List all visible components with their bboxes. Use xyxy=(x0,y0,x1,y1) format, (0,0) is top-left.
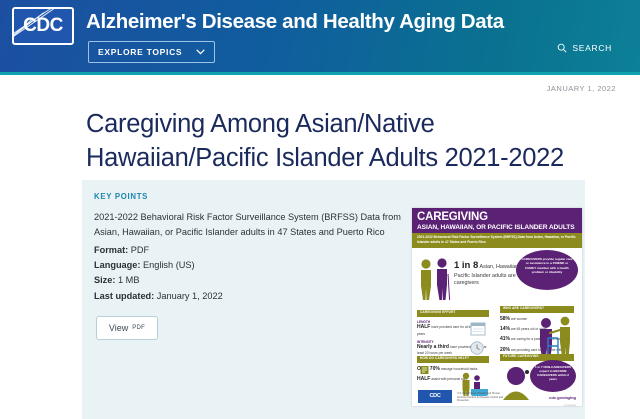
meta-value: English (US) xyxy=(140,260,194,270)
explore-topics-button[interactable]: EXPLORE TOPICS xyxy=(88,41,215,63)
caregiver-figures-icon xyxy=(416,258,456,306)
chevron-down-icon xyxy=(196,48,205,57)
meta-key: Last updated: xyxy=(94,291,154,301)
clock-icon xyxy=(470,341,484,355)
meta-value: PDF xyxy=(128,245,149,255)
stat-value: Nearly a third xyxy=(417,344,449,350)
infographic-subtitle: ASIAN, HAWAIIAN, OR PACIFIC ISLANDER ADU… xyxy=(417,224,578,231)
calendar-icon xyxy=(470,322,486,336)
infographic-agency-note: U.S. Department of Health and Human Serv… xyxy=(457,392,507,403)
bar-who-are-caregivers: WHO ARE CAREGIVERS? xyxy=(500,306,574,313)
stat-value: 41% xyxy=(500,336,510,342)
infographic-thumbnail[interactable]: CAREGIVING ASIAN, HAWAIIAN, OR PACIFIC I… xyxy=(412,208,582,406)
key-points-label: KEY POINTS xyxy=(94,192,148,201)
stat-text: manage household tasks xyxy=(440,367,478,371)
hero-number: 1 in 8 xyxy=(454,260,478,271)
search-icon xyxy=(557,43,567,53)
search-button[interactable]: SEARCH xyxy=(557,43,612,53)
stat-value: 20% xyxy=(500,347,510,353)
meta-key: Size: xyxy=(94,275,115,285)
stat-value: 14% xyxy=(500,326,510,332)
view-pdf-button[interactable]: View PDF xyxy=(96,316,158,340)
household-task-icon xyxy=(420,364,429,375)
infographic-cdc-logo: CDC xyxy=(417,389,453,404)
stat-value: HALF xyxy=(417,376,430,382)
stat-text: are women xyxy=(510,317,527,321)
search-label: SEARCH xyxy=(572,43,612,53)
meta-row-language: Language: English (US) xyxy=(94,258,414,273)
meta-row-last-updated: Last updated: January 1, 2022 xyxy=(94,289,414,304)
future-badge-text: 1 in 7 NON-CAREGIVERS expect to BECOME C… xyxy=(530,360,576,381)
key-points-panel: KEY POINTS 2021-2022 Behavioral Risk Fac… xyxy=(82,180,585,419)
meta-key: Format: xyxy=(94,245,128,255)
site-title: Alzheimer's Disease and Healthy Aging Da… xyxy=(86,10,504,34)
key-points-metadata: Format: PDF Language: English (US) Size:… xyxy=(94,243,414,304)
meta-row-format: Format: PDF xyxy=(94,243,414,258)
cdc-logo[interactable]: CDC xyxy=(12,7,74,45)
view-pdf-label: View xyxy=(109,323,128,333)
page-title: Caregiving Among Asian/Native Hawaiian/P… xyxy=(86,108,586,176)
key-points-description: 2021-2022 Behavioral Risk Factor Surveil… xyxy=(94,210,409,240)
infographic-body: CAREGIVERS provide regular care or assis… xyxy=(412,248,582,406)
infographic-header: CAREGIVING ASIAN, HAWAIIAN, OR PACIFIC I… xyxy=(412,208,582,233)
publication-date: JANUARY 1, 2022 xyxy=(547,84,616,93)
cdc-logo-text: CDC xyxy=(14,15,72,37)
future-caregiving-badge: 1 in 7 NON-CAREGIVERS expect to BECOME C… xyxy=(530,360,576,392)
infographic-title: CAREGIVING xyxy=(417,211,578,223)
infographic-source-line: 2021-2022 Behavioral Risk Factor Surveil… xyxy=(412,233,582,248)
meta-key: Language: xyxy=(94,260,140,270)
view-pdf-filetype: PDF xyxy=(132,325,145,331)
site-header: CDC Alzheimer's Disease and Healthy Agin… xyxy=(0,0,640,75)
meta-value: January 1, 2022 xyxy=(154,291,222,301)
meta-row-size: Size: 1 MB xyxy=(94,273,414,288)
bar-caregiving-effort: CAREGIVING EFFORT xyxy=(417,310,489,317)
bar-how-do-caregivers-help: HOW DO CAREGIVERS HELP? xyxy=(417,356,489,363)
infographic-url: cdc.gov/aging xyxy=(549,395,576,400)
meta-value: 1 MB xyxy=(115,275,139,285)
stat-value: HALF xyxy=(417,324,430,330)
infographic-hero-stat: 1 in 8 Asian, Hawaiian, or Pacific Islan… xyxy=(454,260,526,287)
stat-value: 58% xyxy=(500,316,510,322)
infographic-footnote: CS XXXXXX xyxy=(564,405,576,406)
explore-topics-label: EXPLORE TOPICS xyxy=(98,47,182,57)
